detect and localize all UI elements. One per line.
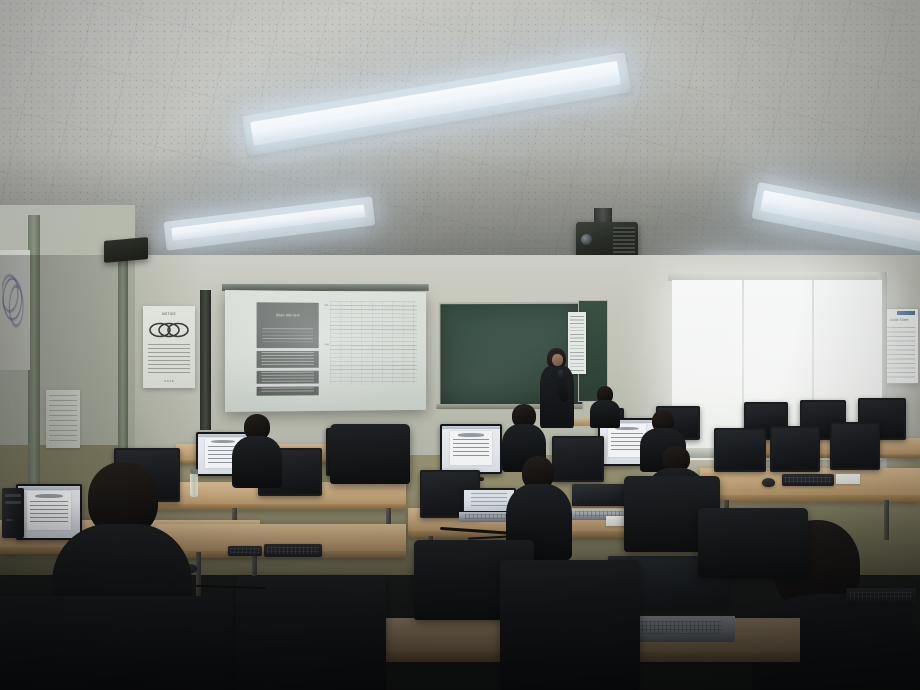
student-chair[interactable]	[330, 424, 410, 484]
microphone	[558, 370, 563, 381]
notice-header-bar	[897, 311, 915, 315]
keyboard[interactable]	[782, 474, 834, 486]
slide-data-table: col row	[330, 301, 417, 385]
slide-table-label-col: col	[324, 303, 328, 307]
keyboard[interactable]	[846, 588, 916, 604]
student-chair[interactable]	[698, 508, 808, 578]
paper-sheet	[836, 474, 860, 484]
projector-vent	[613, 227, 635, 254]
poster-title: NOTICE	[143, 312, 195, 316]
slide-block-3	[261, 387, 313, 393]
student-chair[interactable]	[236, 576, 386, 690]
desktop-monitor[interactable]	[770, 426, 816, 468]
monitor-screen	[440, 424, 502, 474]
interlocking-rings-icon	[148, 322, 190, 338]
laptop-lid	[572, 484, 626, 506]
window-titlebar	[442, 426, 500, 429]
rings-logo-poster: NOTICE 2 0 1 9	[143, 306, 195, 388]
pull-down-projection-screen: Slide title text col row	[225, 290, 426, 412]
document-page	[450, 431, 492, 465]
classroom-photo: NOTICE 2 0 1 9 Guide Sheet Slide tit	[0, 0, 920, 690]
laptop[interactable]	[572, 484, 626, 520]
keyboard[interactable]	[228, 546, 262, 556]
slide-subtitle-lines	[262, 328, 312, 342]
drive-bay	[5, 501, 22, 504]
slide-divider-3	[257, 383, 319, 386]
slide-divider-2	[257, 368, 319, 371]
projector-lens	[581, 234, 592, 245]
slide-table-grid	[330, 301, 417, 385]
power-button[interactable]	[6, 519, 12, 521]
monitor-screen	[714, 428, 766, 472]
slide-table-label-row: row	[324, 342, 329, 346]
mouse[interactable]	[762, 478, 775, 487]
poster-text-block	[148, 344, 190, 374]
drive-bay	[5, 494, 22, 497]
student-torso	[590, 400, 620, 428]
student-mid-left	[232, 414, 282, 484]
student-chair[interactable]	[0, 596, 240, 690]
document-text-lines	[453, 439, 488, 459]
student-torso	[232, 436, 282, 488]
notice-text-rows	[883, 327, 915, 380]
monitor-screen	[830, 422, 880, 470]
ceiling-speaker	[104, 237, 148, 263]
desktop-monitor[interactable]	[714, 428, 762, 468]
student-back-center	[590, 386, 620, 426]
desktop-monitor[interactable]	[830, 422, 876, 466]
slide-block-1	[261, 352, 313, 365]
keyboard[interactable]	[264, 544, 322, 557]
monitor-screen	[770, 426, 820, 472]
instructor-face	[552, 354, 563, 366]
wall-pillar-strip	[200, 290, 211, 430]
pc-tower	[2, 488, 24, 538]
slide-block-2	[261, 372, 313, 382]
slide-divider-1	[257, 348, 319, 350]
document-heading	[458, 433, 485, 436]
poster-footer: 2 0 1 9	[143, 379, 195, 383]
document-text-lines	[611, 433, 644, 452]
student-chair[interactable]	[500, 560, 640, 690]
slide-title-panel: Slide title text	[257, 302, 319, 395]
laptop[interactable]	[462, 488, 512, 522]
monitor-showing-document[interactable]	[440, 424, 498, 470]
slide-title-line-1: Slide title text	[257, 313, 319, 318]
